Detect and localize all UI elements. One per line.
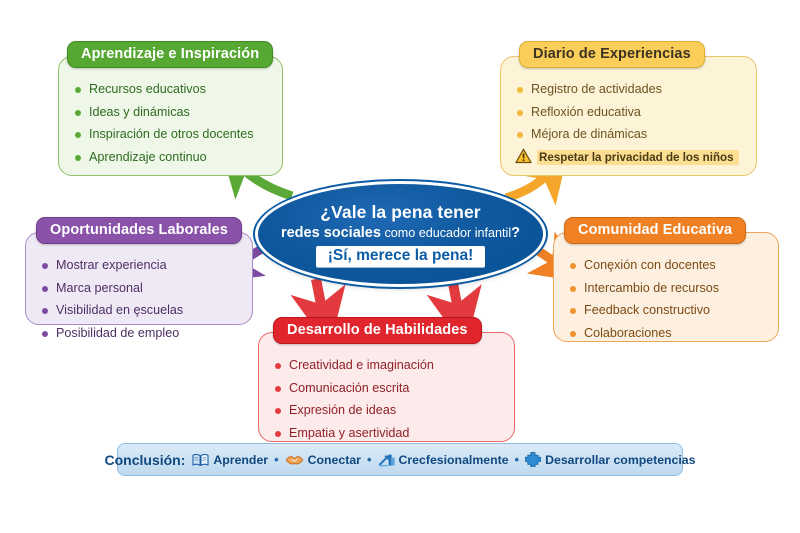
conclusion-item-label: Conectar xyxy=(308,453,361,467)
conclusion-item-crecfesionalmente: Crecfesionalmente xyxy=(378,452,509,467)
bullet-icon xyxy=(275,408,281,414)
list-item-warning: Respetar la privacidad de los niños xyxy=(517,151,746,164)
arrow-to-desarrollo-left xyxy=(316,279,324,320)
card-title-comunidad: Comunidad Educativa xyxy=(564,217,746,244)
bullet-icon xyxy=(570,286,576,292)
list-item: Expresión de ideas xyxy=(275,404,504,417)
card-diario-de-experiencias[interactable]: Diario de Experiencias Registro de activ… xyxy=(500,56,757,176)
list-item-label: Ideas y dinámicas xyxy=(89,105,190,119)
growth-arrow-icon xyxy=(378,452,395,467)
bullet-icon xyxy=(42,331,48,337)
bullet-icon xyxy=(42,286,48,292)
bullet-icon xyxy=(517,132,523,138)
list-item: Comunicación escrita xyxy=(275,382,504,395)
list-item: Feedback constructivo xyxy=(570,304,768,317)
list-item: Registro de actividades xyxy=(517,83,746,96)
list-item: Creatividad e imaginación xyxy=(275,359,504,372)
list-item-label: Conȩxión con docentes xyxy=(584,258,716,272)
list-item: Visibilidad en ȩscuelas xyxy=(42,304,242,317)
card-desarrollo-de-habilidades[interactable]: Desarrollo de Habilidades Creatividad e … xyxy=(258,332,515,442)
bullet-icon xyxy=(517,110,523,116)
list-item-label: Expresión de ideas xyxy=(289,403,396,417)
bullet-icon xyxy=(517,87,523,93)
card-title-desarrollo: Desarrollo de Habilidades xyxy=(273,317,482,344)
card-list-desarrollo: Creatividad e imaginación Comunicación e… xyxy=(259,333,514,457)
bullet-icon xyxy=(275,363,281,369)
list-item: Inspiración de otros docentes xyxy=(75,128,272,141)
bullet-icon xyxy=(75,110,81,116)
list-item: Marca personal xyxy=(42,282,242,295)
list-item: Colaboraciones xyxy=(570,327,768,340)
list-item: Mostrar experiencia xyxy=(42,259,242,272)
arrow-to-desarrollo-right xyxy=(452,278,460,320)
warning-label: Respetar la privacidad de los niños xyxy=(537,150,739,165)
list-item: Ideas y dinámicas xyxy=(75,106,272,119)
card-list-comunidad: Conȩxión con docentes Intercambio de rec… xyxy=(554,233,778,357)
bullet-icon xyxy=(75,132,81,138)
bullet-icon xyxy=(75,87,81,93)
bullet-icon xyxy=(275,386,281,392)
hub-question-thin: como educador infantil xyxy=(384,226,511,240)
list-item-label: Inspiración de otros docentes xyxy=(89,127,254,141)
list-item: Méjora de dinámicas xyxy=(517,128,746,141)
list-item: Intercambio de recursos xyxy=(570,282,768,295)
card-comunidad-educativa[interactable]: Comunidad Educativa Conȩxión con docente… xyxy=(553,232,779,342)
hub-question-line-1: ¿Vale la pena tener xyxy=(320,202,480,223)
list-item-label: Recursos educativos xyxy=(89,82,206,96)
list-item: Posibilidad de empleo xyxy=(42,327,242,340)
card-oportunidades-laborales[interactable]: Oportunidades Laborales Mostrar experien… xyxy=(25,232,253,325)
conclusion-item-aprender: Aprender xyxy=(192,453,268,467)
list-item-label: Comunicación escrita xyxy=(289,381,409,395)
list-item-label: Marca personal xyxy=(56,281,143,295)
card-aprendizaje-e-inspiracion[interactable]: Aprendizaje e Inspiración Recursos educa… xyxy=(58,56,283,176)
list-item-label: Intercambio de recursos xyxy=(584,281,719,295)
card-title-aprendizaje: Aprendizaje e Inspiración xyxy=(67,41,273,68)
list-item-label: Colaboraciones xyxy=(584,326,672,340)
card-title-oportunidades: Oportunidades Laborales xyxy=(36,217,242,244)
list-item-label: Visibilidad en ȩscuelas xyxy=(56,303,183,317)
infographic-canvas: Aprendizaje e Inspiración Recursos educa… xyxy=(0,0,800,533)
puzzle-piece-icon xyxy=(525,452,541,467)
list-item-label: Empatia y asertividad xyxy=(289,426,409,440)
central-question-ellipse[interactable]: ¿Vale la pena tener redes sociales como … xyxy=(258,184,543,284)
conclusion-separator: • xyxy=(515,452,520,467)
bullet-icon xyxy=(275,431,281,437)
bullet-icon xyxy=(570,308,576,314)
conclusion-item-label: Desarrollar competencias xyxy=(545,453,695,467)
conclusion-item-label: Aprender xyxy=(213,453,268,467)
list-item-label: Feedback constructivo xyxy=(584,303,710,317)
list-item-label: Aprendizaje continuo xyxy=(89,150,207,164)
list-item: Recursos educativos xyxy=(75,83,272,96)
card-list-aprendizaje: Recursos educativos Ideas y dinámicas In… xyxy=(59,57,282,181)
conclusion-item-label: Crecfesionalmente xyxy=(399,453,509,467)
conclusion-item-conectar: Conectar xyxy=(285,453,361,467)
hub-question-line-2: redes sociales como educador infantil? xyxy=(281,225,520,241)
conclusion-separator: • xyxy=(367,452,372,467)
bullet-icon xyxy=(75,155,81,161)
bullet-icon xyxy=(570,263,576,269)
hub-answer-badge: ¡Sí, merece la pena! xyxy=(316,246,486,267)
list-item: Conȩxión con docentes xyxy=(570,259,768,272)
hub-question-strong: redes sociales xyxy=(281,225,381,241)
hub-question-mark: ? xyxy=(511,225,520,241)
conclusion-separator: • xyxy=(274,452,279,467)
list-item: Refloxión educativa xyxy=(517,106,746,119)
warning-triangle-icon xyxy=(515,148,532,164)
bullet-icon xyxy=(570,331,576,337)
bullet-icon xyxy=(42,263,48,269)
list-item: Empatia y asertividad xyxy=(275,427,504,440)
card-title-diario: Diario de Experiencias xyxy=(519,41,705,68)
list-item-label: Méjora de dinámicas xyxy=(531,127,647,141)
handshake-icon xyxy=(285,453,304,467)
bullet-icon xyxy=(42,308,48,314)
list-item-label: Registro de actividades xyxy=(531,82,662,96)
list-item-label: Mostrar experiencia xyxy=(56,258,167,272)
list-item-label: Refloxión educativa xyxy=(531,105,641,119)
card-list-diario: Registro de actividades Refloxión educat… xyxy=(501,57,756,181)
list-item: Aprendizaje continuo xyxy=(75,151,272,164)
conclusion-label: Conclusión: xyxy=(105,452,186,468)
conclusion-item-desarrollar-competencias: Desarrollar competencias xyxy=(525,452,695,467)
list-item-label: Creatividad e imaginación xyxy=(289,358,434,372)
card-list-oportunidades: Mostrar experiencia Marca personal Visib… xyxy=(26,233,252,357)
open-book-icon xyxy=(192,453,209,467)
list-item-label: Posibilidad de empleo xyxy=(56,326,179,340)
conclusion-bar: Conclusión: Aprender • Conectar • xyxy=(117,443,683,476)
